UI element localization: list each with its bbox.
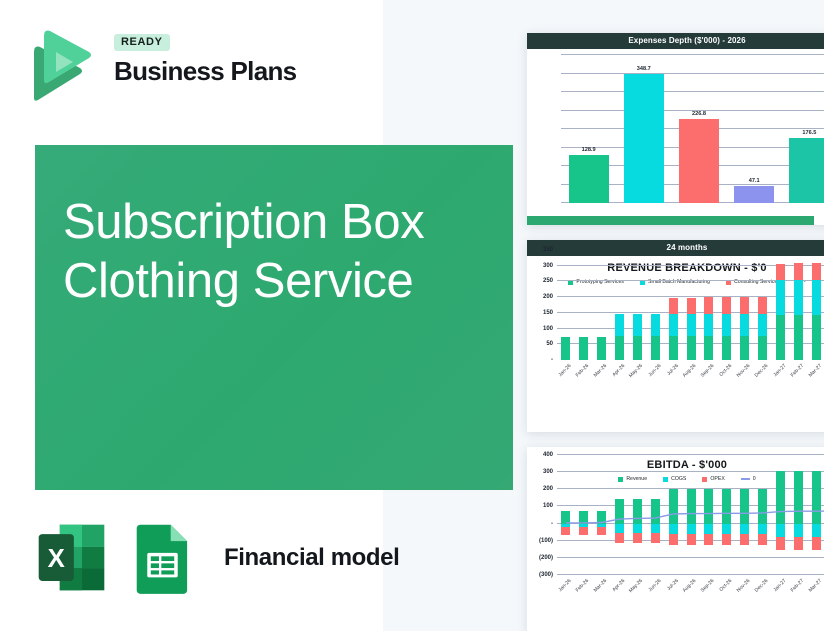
x-axis-label: Feb-27 bbox=[790, 363, 805, 378]
x-axis-label: Dec-26 bbox=[754, 363, 770, 379]
bar-group: 47.1 bbox=[734, 55, 774, 203]
y-axis-tick: 300 bbox=[529, 263, 553, 269]
bar-group[interactable] bbox=[722, 250, 731, 360]
bar-segment-negative bbox=[651, 524, 660, 533]
y-axis-tick: - bbox=[529, 357, 553, 363]
bar-segment-negative bbox=[633, 524, 642, 533]
y-axis-tick: - bbox=[527, 521, 553, 527]
bar-group[interactable] bbox=[794, 455, 803, 575]
x-axis-label-wrap: Jun-26 bbox=[651, 360, 660, 382]
bar-segment-negative bbox=[579, 527, 588, 535]
x-axis-label: Aug-26 bbox=[682, 578, 698, 594]
x-axis-label-wrap: Jan-26 bbox=[561, 360, 570, 382]
x-axis-label: Sep-26 bbox=[700, 578, 716, 594]
x-axis-label: Dec-26 bbox=[754, 578, 770, 594]
x-axis-label: Mar-27 bbox=[807, 578, 822, 593]
bar-group[interactable] bbox=[704, 455, 713, 575]
bar-segment bbox=[812, 315, 821, 360]
x-axis-label-wrap: May-26 bbox=[633, 360, 642, 382]
bar-segment bbox=[669, 336, 678, 360]
bar-segment-positive bbox=[651, 499, 660, 524]
bar-segment bbox=[794, 263, 803, 279]
x-axis-label: Nov-26 bbox=[736, 363, 752, 379]
bar-segment bbox=[704, 297, 713, 313]
x-axis-label-wrap: Jul-26 bbox=[669, 575, 678, 597]
x-axis-label-wrap: Mar-27 bbox=[812, 575, 821, 597]
y-axis-tick: 150 bbox=[529, 310, 553, 316]
x-axis-label-wrap: Aug-26 bbox=[687, 360, 696, 382]
bar-segment-negative bbox=[740, 534, 749, 545]
bar-group[interactable] bbox=[758, 455, 767, 575]
bar-segment-positive bbox=[615, 499, 624, 524]
x-axis-label-wrap: Sep-26 bbox=[704, 360, 713, 382]
y-axis-tick: 100 bbox=[527, 503, 553, 509]
bar-segment-negative bbox=[758, 524, 767, 534]
bar-segment bbox=[633, 336, 642, 360]
bar-group[interactable] bbox=[615, 250, 624, 360]
bar-group[interactable] bbox=[776, 250, 785, 360]
x-axis-label-wrap: Aug-26 bbox=[687, 575, 696, 597]
bar-segment-positive bbox=[740, 489, 749, 524]
x-axis-label-wrap: Jan-26 bbox=[561, 575, 570, 597]
y-axis-tick: (200) bbox=[527, 555, 553, 561]
bar-segment-negative bbox=[651, 533, 660, 543]
bar-segment-negative bbox=[687, 524, 696, 534]
bar-value-label: 47.1 bbox=[749, 178, 760, 184]
x-axis-label-wrap: Dec-26 bbox=[758, 575, 767, 597]
bar-segment bbox=[633, 314, 642, 336]
bar[interactable] bbox=[734, 186, 774, 203]
bar-group[interactable] bbox=[758, 250, 767, 360]
x-axis-label: Jan-26 bbox=[558, 578, 573, 593]
bar-segment bbox=[704, 314, 713, 336]
brand-logo-text: READY Business Plans bbox=[114, 32, 296, 87]
bar-group[interactable] bbox=[812, 250, 821, 360]
bar-group: 176.5 bbox=[789, 55, 824, 203]
x-axis-label: Mar-26 bbox=[593, 363, 608, 378]
x-axis-label-wrap: May-26 bbox=[633, 575, 642, 597]
y-axis-tick: 250 bbox=[529, 278, 553, 284]
bar-segment bbox=[615, 314, 624, 336]
bar-value-label: 176.5 bbox=[802, 130, 816, 136]
x-axis-label: Apr-26 bbox=[611, 578, 626, 593]
bar-segment-negative bbox=[669, 524, 678, 534]
bar-segment bbox=[651, 336, 660, 360]
chart-panel-revenue[interactable]: 24 months REVENUE BREAKDOWN - $'0 Protot… bbox=[527, 240, 824, 432]
bar-segment bbox=[776, 264, 785, 280]
bar[interactable] bbox=[569, 155, 609, 203]
bar-group[interactable] bbox=[615, 455, 624, 575]
bar-value-label: 226.8 bbox=[692, 111, 706, 117]
x-axis-label-wrap: Nov-26 bbox=[740, 575, 749, 597]
bar[interactable] bbox=[789, 138, 824, 203]
x-axis-label: Feb-27 bbox=[790, 578, 805, 593]
bar[interactable] bbox=[624, 74, 664, 203]
bar-segment-positive bbox=[669, 489, 678, 524]
bar-segment bbox=[561, 337, 570, 360]
x-axis-label-wrap: Feb-26 bbox=[579, 360, 588, 382]
x-axis-label: Jan-27 bbox=[772, 363, 787, 378]
revenue-bar-row bbox=[557, 250, 824, 360]
x-axis-label: Jan-27 bbox=[772, 578, 787, 593]
bar-group[interactable] bbox=[740, 455, 749, 575]
bar-group[interactable] bbox=[579, 455, 588, 575]
brand-logo[interactable]: READY Business Plans bbox=[26, 24, 326, 108]
bar-segment-negative bbox=[758, 534, 767, 545]
bar-group[interactable] bbox=[633, 455, 642, 575]
bar-segment bbox=[794, 315, 803, 360]
bar-segment-positive bbox=[561, 511, 570, 523]
bar-segment-negative bbox=[722, 524, 731, 534]
ready-badge: READY bbox=[114, 34, 170, 51]
bar-segment-positive bbox=[758, 489, 767, 524]
bar-segment bbox=[615, 336, 624, 360]
bar-group[interactable] bbox=[561, 250, 570, 360]
bar-segment bbox=[740, 297, 749, 313]
x-axis-label: May-26 bbox=[628, 363, 644, 379]
bar-segment bbox=[687, 336, 696, 360]
y-axis-tick: (100) bbox=[527, 538, 553, 544]
bar-group[interactable] bbox=[740, 250, 749, 360]
bar-segment bbox=[812, 280, 821, 315]
x-axis-label-wrap: Feb-26 bbox=[579, 575, 588, 597]
bar-group[interactable] bbox=[561, 455, 570, 575]
bar-segment bbox=[669, 314, 678, 336]
y-axis-tick: 50 bbox=[529, 341, 553, 347]
x-axis-label: Sep-26 bbox=[700, 363, 716, 379]
bar-segment bbox=[758, 336, 767, 361]
x-axis-labels: Jan-26Feb-26Mar-26Apr-26May-26Jun-26Jul-… bbox=[557, 360, 824, 382]
bar-segment-positive bbox=[579, 511, 588, 523]
bar-group[interactable] bbox=[704, 250, 713, 360]
ebitda-bar-row bbox=[557, 455, 824, 575]
bar-segment-negative bbox=[597, 527, 606, 535]
x-axis-label: Mar-26 bbox=[593, 578, 608, 593]
bar-segment-negative bbox=[633, 533, 642, 543]
bar-segment-positive bbox=[812, 471, 821, 523]
expenses-plot-area: 128.9348.7226.847.1176.5 bbox=[561, 55, 824, 203]
bar-segment bbox=[776, 315, 785, 360]
bar-segment-negative bbox=[561, 527, 570, 535]
x-axis-label-wrap: Feb-27 bbox=[794, 360, 803, 382]
bar-segment bbox=[758, 297, 767, 313]
x-axis-label-wrap: Mar-26 bbox=[597, 575, 606, 597]
expenses-chart-title: Expenses Depth ($'000) - 2026 bbox=[527, 33, 824, 49]
x-axis-label: Jan-26 bbox=[558, 363, 573, 378]
bar-group[interactable] bbox=[597, 455, 606, 575]
x-axis-label-wrap: Apr-26 bbox=[615, 575, 624, 597]
bar-segment-positive bbox=[704, 489, 713, 524]
bar-segment-negative bbox=[794, 524, 803, 537]
x-axis-label: Jun-26 bbox=[647, 363, 662, 378]
bar-segment-positive bbox=[776, 471, 785, 523]
x-axis-label-wrap: Jan-27 bbox=[776, 575, 785, 597]
y-axis-tick: 200 bbox=[529, 294, 553, 300]
bar-segment bbox=[740, 314, 749, 336]
bar-segment bbox=[597, 337, 606, 360]
bar-group: 226.8 bbox=[679, 55, 719, 203]
x-axis-label-wrap: Sep-26 bbox=[704, 575, 713, 597]
x-axis-label: Apr-26 bbox=[611, 363, 626, 378]
expenses-panel-accentbar bbox=[527, 216, 814, 225]
x-axis-label-wrap: Mar-26 bbox=[597, 360, 606, 382]
bar-segment-negative bbox=[794, 537, 803, 550]
bar-segment bbox=[722, 314, 731, 336]
bar-segment bbox=[704, 336, 713, 361]
bar-group[interactable] bbox=[687, 455, 696, 575]
bar-segment-negative bbox=[722, 534, 731, 545]
bar-segment-negative bbox=[776, 524, 785, 537]
bar-segment bbox=[687, 298, 696, 314]
bar-segment-negative bbox=[740, 524, 749, 534]
bar-segment-positive bbox=[597, 511, 606, 524]
google-sheets-icon[interactable] bbox=[125, 520, 200, 595]
y-axis-tick: 350 bbox=[529, 247, 553, 253]
brand-name: Business Plans bbox=[114, 56, 296, 87]
x-axis-label-wrap: Mar-27 bbox=[812, 360, 821, 382]
bar-segment-positive bbox=[633, 499, 642, 524]
bar-group[interactable] bbox=[651, 455, 660, 575]
bar-segment-positive bbox=[794, 471, 803, 523]
x-axis-label-wrap: Feb-27 bbox=[794, 575, 803, 597]
bar-segment-negative bbox=[704, 524, 713, 534]
play-triangle-logo-icon bbox=[26, 30, 94, 102]
x-axis-label: Nov-26 bbox=[736, 578, 752, 594]
bar-segment bbox=[651, 314, 660, 336]
bar-segment-positive bbox=[687, 489, 696, 524]
bar-segment bbox=[758, 314, 767, 336]
bar-group: 128.9 bbox=[569, 55, 609, 203]
bar-segment-negative bbox=[669, 534, 678, 545]
x-axis-label-wrap: Apr-26 bbox=[615, 360, 624, 382]
x-axis-label-wrap: Dec-26 bbox=[758, 360, 767, 382]
svg-text:X: X bbox=[48, 545, 65, 573]
bar-segment bbox=[776, 280, 785, 315]
bar-segment bbox=[794, 280, 803, 315]
bar-group[interactable] bbox=[669, 455, 678, 575]
bar-segment bbox=[669, 298, 678, 314]
footer-label: Financial model bbox=[224, 544, 399, 572]
y-axis-tick: 400 bbox=[527, 452, 553, 458]
x-axis-label: Feb-26 bbox=[575, 363, 590, 378]
footer-row: X Financial model bbox=[34, 520, 399, 595]
hero-panel: Subscription Box Clothing Service bbox=[35, 145, 513, 490]
bar-segment-negative bbox=[615, 533, 624, 543]
poster-canvas: READY Business Plans Subscription Box Cl… bbox=[0, 0, 824, 631]
bar-segment-negative bbox=[704, 534, 713, 545]
x-axis-label-wrap: Jan-27 bbox=[776, 360, 785, 382]
bar-group[interactable] bbox=[687, 250, 696, 360]
chart-panel-ebitda[interactable]: EBITDA - $'000 RevenueCOGSOPEX0 40030020… bbox=[527, 447, 824, 631]
bar-group[interactable] bbox=[812, 455, 821, 575]
x-axis-labels: Jan-26Feb-26Mar-26Apr-26May-26Jun-26Jul-… bbox=[557, 575, 824, 597]
x-axis-label: Aug-26 bbox=[682, 363, 698, 379]
x-axis-label-wrap: Jun-26 bbox=[651, 575, 660, 597]
bar-segment bbox=[722, 297, 731, 313]
x-axis-label: Feb-26 bbox=[575, 578, 590, 593]
bar[interactable] bbox=[679, 119, 719, 203]
bar-segment bbox=[687, 314, 696, 336]
x-axis-label-wrap: Jul-26 bbox=[669, 360, 678, 382]
y-axis-tick: 100 bbox=[529, 326, 553, 332]
bar-segment bbox=[740, 336, 749, 361]
x-axis-label-wrap: Oct-26 bbox=[722, 575, 731, 597]
x-axis-label: Oct-26 bbox=[719, 363, 734, 378]
bar-group[interactable] bbox=[722, 455, 731, 575]
bar-segment bbox=[722, 336, 731, 361]
microsoft-excel-icon[interactable]: X bbox=[34, 520, 109, 595]
bar-value-label: 348.7 bbox=[637, 66, 651, 72]
y-axis-tick: (300) bbox=[527, 572, 553, 578]
x-axis-label: Jul-26 bbox=[666, 363, 680, 377]
bar-group[interactable] bbox=[579, 250, 588, 360]
bar-group[interactable] bbox=[669, 250, 678, 360]
y-axis-tick: 300 bbox=[527, 469, 553, 475]
expenses-bar-row: 128.9348.7226.847.1176.5 bbox=[561, 55, 824, 203]
bar-group[interactable] bbox=[794, 250, 803, 360]
x-axis-label: Oct-26 bbox=[719, 578, 734, 593]
bar-segment-negative bbox=[615, 524, 624, 533]
bar-segment-negative bbox=[812, 524, 821, 537]
x-axis-label: May-26 bbox=[628, 578, 644, 594]
page-title: Subscription Box Clothing Service bbox=[63, 193, 483, 311]
revenue-plot-area: 35030025020015010050-Jan-26Feb-26Mar-26A… bbox=[557, 250, 824, 360]
x-axis-label-wrap: Nov-26 bbox=[740, 360, 749, 382]
bar-segment-negative bbox=[812, 537, 821, 550]
bar-segment bbox=[579, 337, 588, 360]
bar-segment bbox=[812, 263, 821, 279]
bar-group: 348.7 bbox=[624, 55, 664, 203]
bar-segment-negative bbox=[776, 537, 785, 550]
bar-group[interactable] bbox=[633, 250, 642, 360]
bar-group[interactable] bbox=[651, 250, 660, 360]
ebitda-plot-area: 400300200100-(100)(200)(300)Jan-26Feb-26… bbox=[557, 455, 824, 575]
bar-value-label: 128.9 bbox=[582, 147, 596, 153]
x-axis-label: Jun-26 bbox=[647, 578, 662, 593]
bar-segment-positive bbox=[722, 489, 731, 524]
x-axis-label-wrap: Oct-26 bbox=[722, 360, 731, 382]
x-axis-label: Mar-27 bbox=[807, 363, 822, 378]
bar-group[interactable] bbox=[776, 455, 785, 575]
bar-segment-negative bbox=[687, 534, 696, 545]
y-axis-tick: 200 bbox=[527, 486, 553, 492]
chart-panel-expenses[interactable]: Expenses Depth ($'000) - 2026 128.9348.7… bbox=[527, 33, 824, 225]
bar-group[interactable] bbox=[597, 250, 606, 360]
x-axis-label: Jul-26 bbox=[666, 578, 680, 592]
